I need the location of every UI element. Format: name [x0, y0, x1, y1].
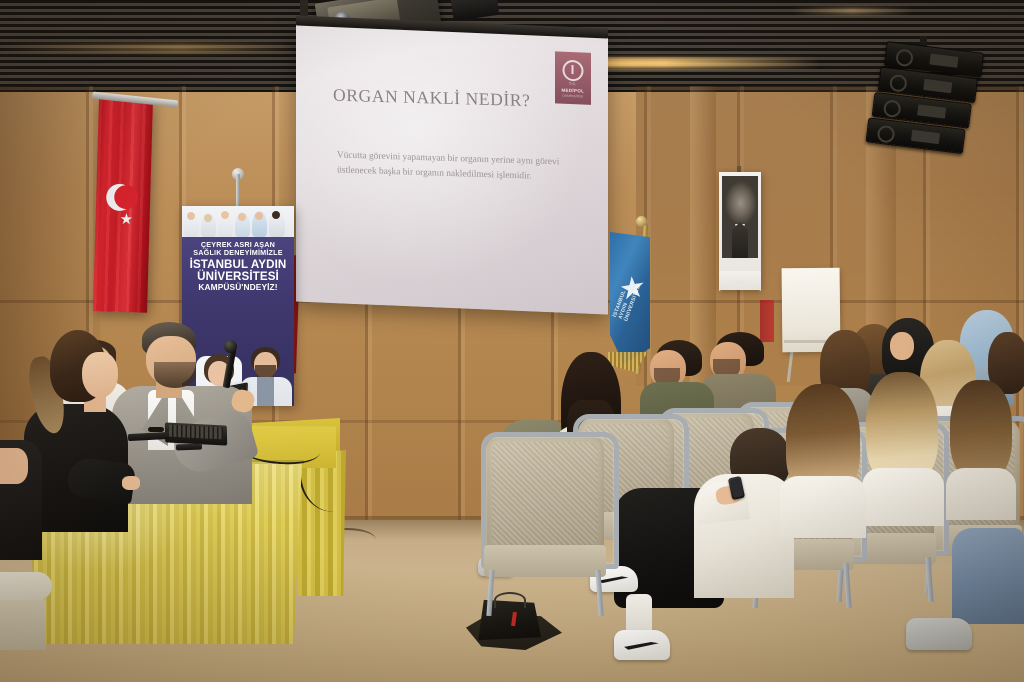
- speaker-man: [118, 322, 258, 502]
- line-array-speaker: [866, 40, 982, 160]
- attendee-ombre-hair: [780, 384, 866, 534]
- hand: [122, 476, 140, 490]
- flag-finial: [636, 216, 647, 227]
- turkish-flag: ★: [93, 99, 153, 312]
- presenter-clicker[interactable]: [176, 444, 202, 451]
- logo-line-3: ÜNİVERSİTESİ: [555, 94, 591, 100]
- sneaker-grey: [906, 618, 972, 650]
- beard: [154, 362, 196, 388]
- attendee-right-front: [946, 380, 1016, 520]
- portrait-collar: [735, 224, 745, 238]
- ataturk-portrait-pennant: [719, 172, 761, 290]
- pennant-notch: [719, 271, 761, 291]
- ceiling-light-strip-right: [792, 8, 912, 14]
- torso: [946, 468, 1016, 520]
- white-top: [780, 476, 866, 538]
- chair-left-edge: [0, 572, 52, 600]
- hand-left-edge: [0, 448, 28, 484]
- university-seal-icon: [562, 60, 583, 82]
- chair-seat: [484, 545, 606, 577]
- logo-line-1: T.C.: [555, 81, 591, 87]
- projector-mount: [300, 0, 308, 16]
- rollup-line-2: SAĞLIK DENEYİMİMİZLE: [186, 249, 290, 256]
- face: [890, 332, 914, 360]
- chair-seat-left-edge: [0, 596, 46, 650]
- face: [82, 352, 118, 398]
- conference-hall-photo: ★ ORGAN NAKLİ NEDİR? Vücutta görevini ya…: [0, 0, 1024, 682]
- sneaker: [614, 630, 670, 660]
- rollup-top-photo-strip: [182, 206, 294, 237]
- crescent-icon: [106, 184, 134, 212]
- audience-chair[interactable]: [486, 436, 604, 612]
- rollup-line-1: ÇEYREK ASRI AŞAN: [186, 241, 290, 248]
- white-top: [862, 468, 944, 526]
- ceiling-light-strip-left: [0, 44, 300, 52]
- slide-university-logo: T.C. MEDİPOL ÜNİVERSİTESİ: [555, 51, 591, 105]
- rollup-line-3: İSTANBUL AYDIN: [186, 259, 290, 271]
- attendee-blonde-front: [862, 372, 944, 522]
- rollup-line-4: ÜNİVERSİTESİ: [186, 271, 290, 283]
- hair: [950, 380, 1012, 482]
- microphone-head-icon: [224, 340, 237, 353]
- projection-screen: ORGAN NAKLİ NEDİR? Vücutta görevini yapa…: [296, 23, 608, 314]
- star-icon: ★: [119, 212, 133, 227]
- rollup-text-block: ÇEYREK ASRI AŞAN SAĞLIK DENEYİMİMİZLE İS…: [186, 241, 290, 292]
- table-microphone[interactable]: [148, 427, 164, 432]
- ataturk-portrait-photo: [722, 176, 758, 258]
- sneaker-logo-icon: [624, 642, 659, 650]
- rollup-line-5: KAMPÜSÜ'NDEYİZ!: [186, 283, 290, 292]
- attendee-jeans: [952, 528, 1024, 624]
- phone-screen: [730, 478, 744, 498]
